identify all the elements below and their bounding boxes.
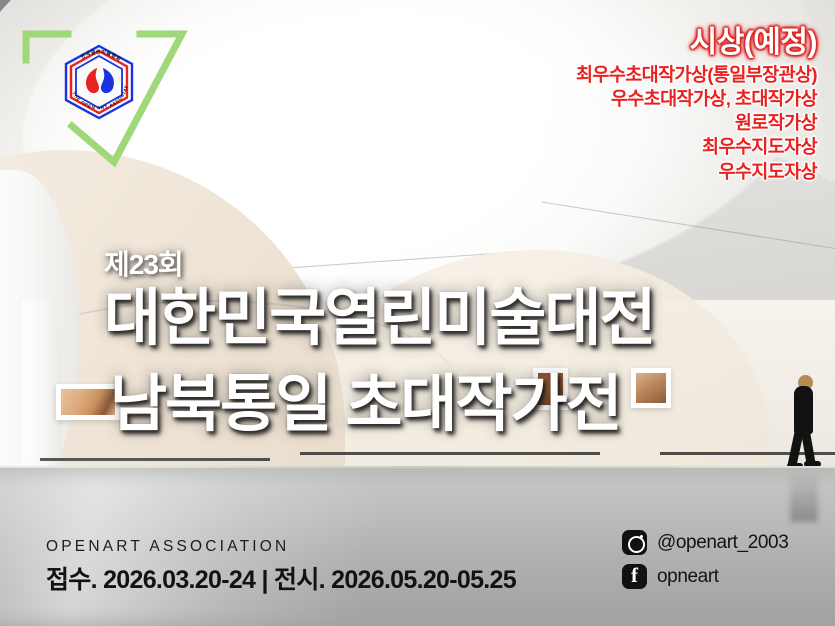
social-links: @openart_2003 opneart [622,530,788,598]
award-item: 원로작가상 [576,112,817,133]
facebook-icon [622,564,647,589]
awards-block: 시상(예정) 최우수초대작가상(통일부장관상) 우수초대작가상, 초대작가상 원… [576,26,817,182]
baseboard-center [300,452,600,455]
award-item: 최우수초대작가상(통일부장관상) [576,64,817,85]
instagram-link[interactable]: @openart_2003 [622,530,788,555]
award-item: 우수지도자상 [576,161,817,182]
organization-name: OPENART ASSOCIATION [46,538,516,556]
baseboard-left [40,458,270,461]
schedule-dates: 접수. 2026.03.20-24 | 전시. 2026.05.20-05.25 [46,560,516,596]
svg-text:한국열린미술협회: 한국열린미술협회 [79,49,122,63]
headline-block: 제23회 대한민국열린미술대전 남북통일 초대작가전 [104,243,654,436]
instagram-icon [622,530,647,555]
footer-info: OPENART ASSOCIATION 접수. 2026.03.20-24 | … [46,538,516,596]
visitor-floor-reflection [790,470,818,522]
facebook-link[interactable]: opneart [622,564,788,589]
instagram-handle: @openart_2003 [657,532,788,554]
page-title: 대한민국열린미술대전 [104,288,654,350]
floor-wall-junction [0,466,835,468]
edition-number: 제23회 [104,243,654,283]
awards-heading: 시상(예정) [576,26,817,60]
walking-visitor-silhouette [788,375,820,470]
exhibition-poster: THE OPEN ART ASSOCIATION 한국열린미술협회 시상(예정)… [0,0,835,626]
award-item: 최우수지도자상 [576,136,817,157]
openart-association-emblem: THE OPEN ART ASSOCIATION 한국열린미술협회 [58,42,140,122]
award-item: 우수초대작가상, 초대작가상 [576,88,817,109]
facebook-handle: opneart [657,566,719,588]
page-subtitle: 남북통일 초대작가전 [110,374,654,436]
